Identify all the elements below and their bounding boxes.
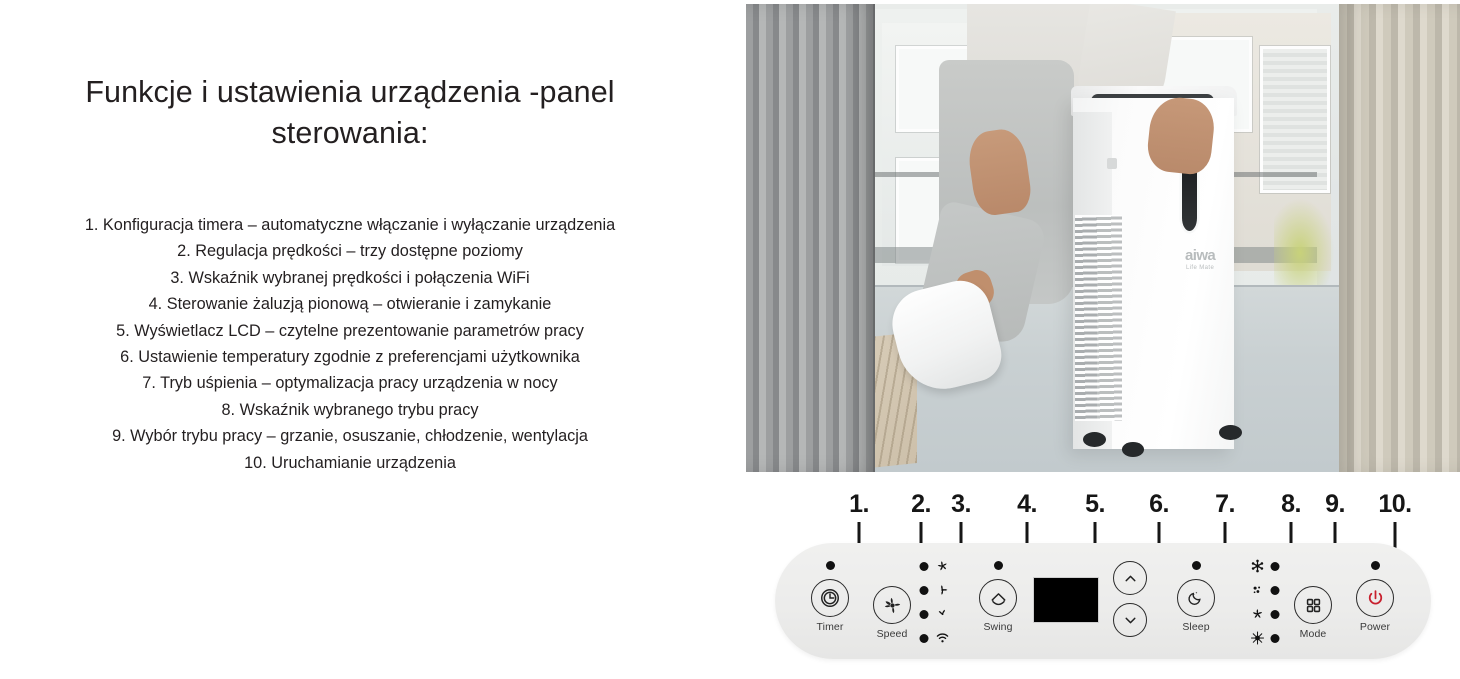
appliance-side-button <box>1107 158 1116 168</box>
control-panel: Timer <box>775 543 1431 659</box>
power-button[interactable] <box>1356 579 1394 617</box>
feature-item-2: 2. Regulacja prędkości – trzy dostępne p… <box>10 238 690 264</box>
feature-item-10: 10. Uruchamianie urządzenia <box>10 450 690 476</box>
swing-icon <box>987 587 1010 610</box>
droplets-icon <box>1249 582 1266 599</box>
callout-number: 8. <box>1281 490 1301 519</box>
greenery <box>1274 191 1338 294</box>
speed-label: Speed <box>873 628 911 640</box>
callout-number: 2. <box>911 490 931 519</box>
text-column: Funkcje i ustawienia urządzenia -panel s… <box>0 0 700 679</box>
mode-button[interactable] <box>1294 586 1332 624</box>
mode-indicator-group <box>1249 558 1280 646</box>
feature-item-3: 3. Wskaźnik wybranej prędkości i połącze… <box>10 265 690 291</box>
callout-leader-line <box>1394 522 1397 550</box>
feature-item-8: 8. Wskaźnik wybranego trybu pracy <box>10 397 690 423</box>
control-mode[interactable]: Mode <box>1294 561 1332 640</box>
indicator-led <box>1271 634 1280 643</box>
callout-number: 10. <box>1378 490 1411 519</box>
slide-root: Funkcje i ustawienia urządzenia -panel s… <box>0 0 1460 679</box>
appliance-caster <box>1083 432 1106 447</box>
swing-label: Swing <box>979 621 1017 633</box>
indicator-fan-medium-icon <box>920 582 951 598</box>
feature-item-6: 6. Ustawienie temperatury zgodnie z pref… <box>10 344 690 370</box>
indicator-led <box>920 562 929 571</box>
control-display <box>1033 577 1099 623</box>
sleep-label: Sleep <box>1177 621 1215 633</box>
clock-icon <box>819 587 841 609</box>
control-temperature[interactable] <box>1113 561 1147 637</box>
brand-logo: aiwa Life Mate <box>1164 247 1235 271</box>
snowflake-icon <box>1249 558 1266 575</box>
indicator-led <box>920 634 929 643</box>
indicator-led <box>1271 610 1280 619</box>
chevron-down-icon <box>1122 612 1139 629</box>
indicator-led <box>920 586 929 595</box>
callout-number: 5. <box>1085 490 1105 519</box>
callout-number: 6. <box>1149 490 1169 519</box>
swing-led <box>994 561 1003 570</box>
feature-item-9: 9. Wybór trybu pracy – grzanie, osuszani… <box>10 423 690 449</box>
speed-button[interactable] <box>873 586 911 624</box>
feature-list: 1. Konfiguracja timera – automatyczne wł… <box>10 212 690 476</box>
moon-icon <box>1185 587 1207 609</box>
brand-tagline: Life Mate <box>1164 265 1235 271</box>
control-power[interactable]: Power <box>1356 561 1394 633</box>
window-blinds <box>1260 46 1330 192</box>
mode-label: Mode <box>1294 628 1332 640</box>
sleep-button[interactable] <box>1177 579 1215 617</box>
curtain-right <box>1339 4 1460 472</box>
callout-number: 7. <box>1215 490 1235 519</box>
callout-number: 4. <box>1017 490 1037 519</box>
indicator-led <box>1271 562 1280 571</box>
indicator-fan-high-icon <box>920 558 951 574</box>
feature-item-4: 4. Sterowanie żaluzją pionową – otwieran… <box>10 291 690 317</box>
indicator-snowflake-icon <box>1249 558 1280 574</box>
speed-indicators <box>920 558 951 646</box>
mode-indicators <box>1249 558 1280 646</box>
control-sleep[interactable]: Sleep <box>1177 561 1215 633</box>
appliance-caster <box>1219 425 1242 440</box>
callout-number: 3. <box>951 490 971 519</box>
feature-item-7: 7. Tryb uśpienia – optymalizacja pracy u… <box>10 370 690 396</box>
fan-high-icon <box>934 558 951 575</box>
grid-icon <box>1304 596 1323 615</box>
callout-number: 9. <box>1325 490 1345 519</box>
fan-mode-icon <box>1249 606 1266 623</box>
feature-item-5: 5. Wyświetlacz LCD – czytelne prezentowa… <box>10 318 690 344</box>
indicator-droplets-icon <box>1249 582 1280 598</box>
power-label: Power <box>1356 621 1394 633</box>
page-title: Funkcje i ustawienia urządzenia -panel s… <box>20 72 680 155</box>
appliance-air-vent <box>1075 215 1097 421</box>
feature-item-1: 1. Konfiguracja timera – automatyczne wł… <box>10 212 690 238</box>
photo-scene: aiwa Life Mate <box>746 4 1460 472</box>
curtain-left <box>746 4 875 472</box>
timer-led <box>826 561 835 570</box>
fan-icon <box>881 594 904 617</box>
temp-up-button[interactable] <box>1113 561 1147 595</box>
sleep-led <box>1192 561 1201 570</box>
timer-button[interactable] <box>811 579 849 617</box>
fan-medium-icon <box>934 582 951 599</box>
temp-down-button[interactable] <box>1113 603 1147 637</box>
indicator-led <box>1271 586 1280 595</box>
control-panel-diagram: 1.2.3.4.5.6.7.8.9.10. Timer <box>746 478 1460 679</box>
timer-label: Timer <box>811 621 849 633</box>
control-speed[interactable]: Speed <box>873 561 911 640</box>
fan-low-icon <box>934 606 951 623</box>
wifi-icon <box>934 630 951 647</box>
power-led <box>1371 561 1380 570</box>
sun-icon <box>1249 630 1266 647</box>
control-timer[interactable]: Timer <box>811 561 849 633</box>
lcd-display <box>1033 577 1099 623</box>
speed-indicator-group <box>920 558 951 646</box>
power-icon <box>1365 588 1386 609</box>
indicator-wifi-icon <box>920 630 951 646</box>
swing-button[interactable] <box>979 579 1017 617</box>
callout-number: 1. <box>849 490 869 519</box>
indicator-led <box>920 610 929 619</box>
indicator-sun-icon <box>1249 630 1280 646</box>
indicator-fan-mode-icon <box>1249 606 1280 622</box>
brand-name: aiwa <box>1185 247 1215 264</box>
indicator-fan-low-icon <box>920 606 951 622</box>
appliance-caster <box>1122 442 1145 457</box>
control-swing[interactable]: Swing <box>979 561 1017 633</box>
chevron-up-icon <box>1122 570 1139 587</box>
product-photo: aiwa Life Mate <box>746 4 1460 472</box>
